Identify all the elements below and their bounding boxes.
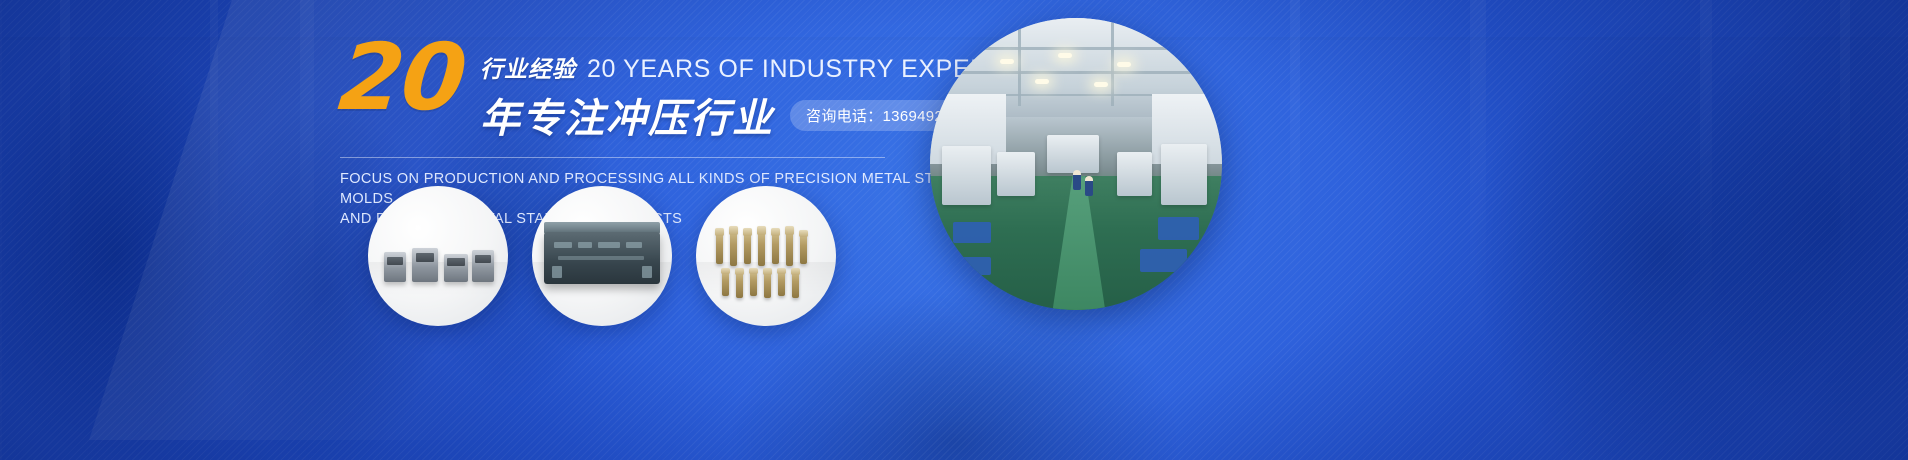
product-circle-connectors: [368, 186, 508, 326]
mold-body: [544, 232, 660, 284]
years-number: 20: [336, 40, 468, 115]
factory-photo-circle: [930, 18, 1222, 310]
product-circle-stamping-mold: [532, 186, 672, 326]
cn-headline: 年专注冲压行业: [480, 86, 774, 144]
product-circle-terminal-pins: [696, 186, 836, 326]
headline-divider: [340, 157, 885, 158]
cn-subtitle: 行业经验: [480, 50, 576, 84]
promo-banner: 20 行业经验 20 YEARS OF INDUSTRY EXPERIENCE …: [0, 0, 1908, 460]
